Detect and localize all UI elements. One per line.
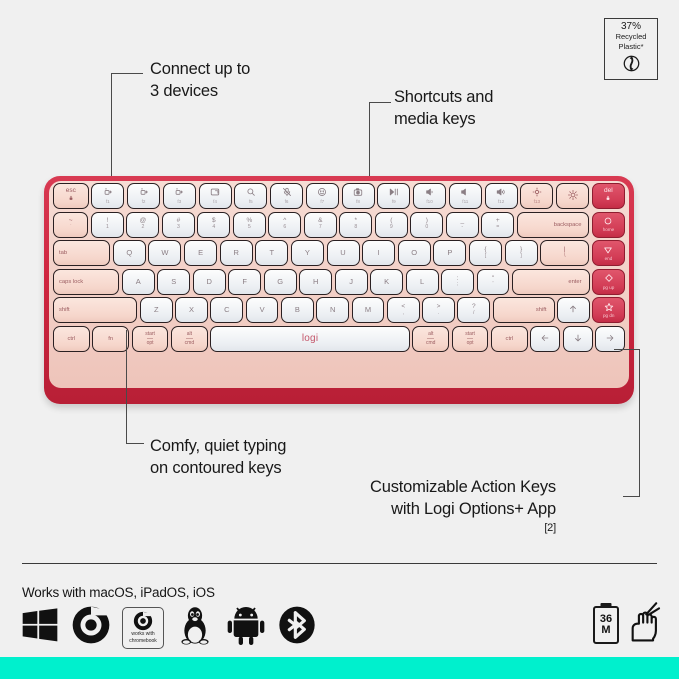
- key-base-label: `: [70, 225, 72, 230]
- key-key[interactable]: ?/: [457, 297, 490, 323]
- key-label: W: [161, 249, 168, 257]
- spacebar-brand: logi: [302, 334, 318, 345]
- key-f[interactable]: F: [228, 269, 261, 295]
- key-dual-label: startopt: [465, 331, 475, 347]
- key-pg-up[interactable]: pg up: [592, 269, 625, 295]
- key-l[interactable]: L: [406, 269, 439, 295]
- key-t[interactable]: T: [255, 240, 288, 266]
- chrome-icon: [71, 605, 111, 650]
- leader-line-action-horizontal-bottom: [623, 496, 640, 497]
- key-cmd[interactable]: altcmd: [171, 326, 208, 352]
- key-u[interactable]: U: [327, 240, 360, 266]
- key-label: pg dn: [603, 314, 615, 319]
- key-base-label: 2: [141, 225, 144, 230]
- callout-comfy-typing: Comfy, quiet typing on contoured keys: [150, 435, 286, 480]
- leader-line-connect-horizontal: [111, 73, 143, 74]
- key-fn-label: f1: [106, 200, 110, 205]
- key-i[interactable]: I: [362, 240, 395, 266]
- device-3-icon: [174, 187, 184, 199]
- windows-icon: [20, 605, 60, 650]
- key-label: X: [189, 306, 194, 314]
- key-b[interactable]: B: [281, 297, 314, 323]
- device-2-icon: [139, 187, 149, 199]
- key-backspace[interactable]: backspace: [517, 212, 590, 238]
- key-key[interactable]: ~`: [53, 212, 88, 238]
- callout-action-line1: Customizable Action Keys: [370, 476, 556, 498]
- key-fn-label: f10: [426, 200, 432, 205]
- play-pause-icon: [389, 187, 399, 199]
- key-7[interactable]: &7: [304, 212, 337, 238]
- key-label: Y: [305, 249, 310, 257]
- key-y[interactable]: Y: [291, 240, 324, 266]
- key-label: fn: [108, 336, 113, 342]
- key-base-label: 5: [248, 225, 251, 230]
- key-label: V: [260, 306, 265, 314]
- key-label: ctrl: [506, 336, 514, 342]
- screenshot-icon: [353, 187, 363, 199]
- key-mac-label: opt: [465, 340, 475, 346]
- key-label: Q: [126, 249, 132, 257]
- key-base-label: ': [493, 282, 494, 287]
- arrow-right-icon: [605, 333, 615, 345]
- key-label: K: [384, 278, 389, 286]
- key-key[interactable]: |\: [540, 240, 589, 266]
- callout-connect-devices: Connect up to 3 devices: [150, 58, 250, 103]
- key-base-label: [: [485, 254, 486, 259]
- key-top-label: esc: [66, 188, 76, 195]
- leader-line-action-vertical: [639, 349, 640, 496]
- diamond-icon: [604, 273, 614, 285]
- key-label: pg up: [603, 286, 615, 291]
- key-arrow-up-icon[interactable]: [557, 297, 590, 323]
- volume-up-icon: [496, 187, 506, 199]
- key-device-2-icon[interactable]: f2: [127, 183, 160, 209]
- key-divider: [467, 338, 474, 339]
- key-cmd[interactable]: altcmd: [412, 326, 449, 352]
- chromebook-caption-line2: chromebook: [129, 639, 157, 644]
- key-label: shift: [59, 307, 70, 313]
- key-d[interactable]: D: [193, 269, 226, 295]
- key-1[interactable]: !1: [91, 212, 124, 238]
- key-m[interactable]: M: [352, 297, 385, 323]
- key-caps-lock[interactable]: caps lock: [53, 269, 119, 295]
- key-o[interactable]: O: [398, 240, 431, 266]
- key-mac-label: opt: [145, 340, 155, 346]
- key-n[interactable]: N: [316, 297, 349, 323]
- key-label: caps lock: [59, 279, 83, 285]
- hand-typing-icon: [627, 602, 661, 647]
- keyboard-row-function-row: escf1f2f3f4f5f6f7f8f9f10f11f12f13del: [53, 183, 625, 209]
- key-label: shift: [536, 307, 547, 313]
- key-key[interactable]: "': [477, 269, 510, 295]
- key-screenshot-icon[interactable]: f8: [342, 183, 375, 209]
- key-fn-label: f6: [285, 200, 289, 205]
- key-base-label: =: [496, 225, 499, 230]
- key-label: home: [603, 228, 615, 233]
- key-label: N: [330, 306, 335, 314]
- mute-icon: [460, 187, 470, 199]
- device-1-icon: [103, 187, 113, 199]
- key-w[interactable]: W: [148, 240, 181, 266]
- arrow-down-icon: [573, 333, 583, 345]
- key-r[interactable]: R: [220, 240, 253, 266]
- key-label: backspace: [554, 222, 582, 228]
- key-brightness-up-icon[interactable]: [556, 183, 589, 209]
- key-label: T: [269, 249, 274, 257]
- key-3[interactable]: #3: [162, 212, 195, 238]
- key-a[interactable]: A: [122, 269, 155, 295]
- volume-down-icon: [425, 187, 435, 199]
- key-2[interactable]: @2: [126, 212, 159, 238]
- key-s[interactable]: S: [157, 269, 190, 295]
- key-base-label: 7: [319, 225, 322, 230]
- key-shift[interactable]: shift: [53, 297, 137, 323]
- key-label: P: [447, 249, 452, 257]
- emoji-icon: [317, 187, 327, 199]
- key-enter[interactable]: enter: [512, 269, 590, 295]
- key-shift[interactable]: shift: [493, 297, 555, 323]
- key-fn-label: f12: [498, 200, 504, 205]
- callout-shortcuts-line2: media keys: [394, 108, 493, 130]
- key-emoji-icon[interactable]: f7: [306, 183, 339, 209]
- key-0[interactable]: )0: [410, 212, 443, 238]
- badge-line-2: Plastic*: [618, 43, 643, 52]
- key-label: S: [171, 278, 176, 286]
- key-9[interactable]: (9: [375, 212, 408, 238]
- key-base-label: ,: [402, 311, 403, 316]
- key-arrow-left-icon[interactable]: [530, 326, 560, 352]
- chromebook-caption-line1: works with: [131, 632, 154, 637]
- key-e[interactable]: E: [184, 240, 217, 266]
- specs-icon-row: 36 M: [593, 602, 661, 647]
- key-label: C: [224, 306, 229, 314]
- key-fn-label: f3: [177, 200, 181, 205]
- android-icon: [226, 605, 266, 650]
- key-ctrl[interactable]: ctrl: [491, 326, 528, 352]
- key-opt[interactable]: startopt: [452, 326, 489, 352]
- compatibility-icon-row: works with chromebook: [20, 604, 317, 651]
- key-base-label: -: [461, 225, 463, 230]
- key-label: L: [420, 278, 424, 286]
- badge-line-1: Recycled: [616, 33, 647, 42]
- key-key[interactable]: <,: [387, 297, 420, 323]
- key-fn-label: f2: [142, 200, 146, 205]
- key-k[interactable]: K: [370, 269, 403, 295]
- key-label: G: [277, 278, 283, 286]
- key-mac-label: cmd: [185, 340, 194, 346]
- key-5[interactable]: %5: [233, 212, 266, 238]
- key-p[interactable]: P: [433, 240, 466, 266]
- works-with-chromebook-icon: works with chromebook: [122, 607, 164, 649]
- battery-value: 36: [600, 614, 612, 625]
- key-pg-dn[interactable]: pg dn: [592, 297, 625, 323]
- key-base-label: 0: [425, 225, 428, 230]
- key-fn[interactable]: fn: [92, 326, 129, 352]
- keyboard-row-shift-row: shiftZXCVBNM<,>.?/shiftpg dn: [53, 297, 625, 323]
- footer-accent-bar: [0, 657, 679, 679]
- keyboard-row-home-row: caps lockASDFGHJKL:;"'enterpg up: [53, 269, 625, 295]
- key-ctrl[interactable]: ctrl: [53, 326, 90, 352]
- key-esc[interactable]: esc: [53, 183, 89, 209]
- key-windows-label: alt: [426, 331, 435, 337]
- key-fn-label: f11: [462, 200, 468, 205]
- section-divider: [22, 563, 657, 564]
- key-label: J: [349, 278, 353, 286]
- keyboard-row-bottom-row: ctrlfnstartoptaltcmdlogialtcmdstartoptct…: [53, 326, 625, 352]
- callout-shortcuts-line1: Shortcuts and: [394, 86, 493, 108]
- key-label: O: [411, 249, 417, 257]
- key-label: end: [605, 257, 613, 262]
- key-key[interactable]: _-: [446, 212, 479, 238]
- key-search-icon[interactable]: f5: [234, 183, 267, 209]
- key-fn-label: f7: [320, 200, 324, 205]
- key-windows-label: start: [465, 331, 475, 337]
- key-c[interactable]: C: [210, 297, 243, 323]
- key-base-label: ;: [457, 282, 458, 287]
- key-mute-icon[interactable]: f11: [449, 183, 482, 209]
- key-key[interactable]: }]: [505, 240, 538, 266]
- key-windows-label: alt: [185, 331, 194, 337]
- key-key[interactable]: >.: [422, 297, 455, 323]
- key-mic-mute-icon[interactable]: f6: [270, 183, 303, 209]
- key-label: enter: [568, 279, 581, 285]
- app-switch-icon: [210, 187, 220, 199]
- key-divider: [147, 338, 154, 339]
- key-fn-label: f5: [249, 200, 253, 205]
- callout-customizable-action-keys: Customizable Action Keys with Logi Optio…: [370, 476, 556, 535]
- key-x[interactable]: X: [175, 297, 208, 323]
- callout-connect-line1: Connect up to: [150, 58, 250, 80]
- key-label: F: [242, 278, 247, 286]
- key-v[interactable]: V: [246, 297, 279, 323]
- key-label: R: [233, 249, 238, 257]
- key-base-label: 9: [390, 225, 393, 230]
- callout-comfy-line1: Comfy, quiet typing: [150, 435, 286, 457]
- key-base-label: 8: [354, 225, 357, 230]
- callout-action-footnote: [2]: [370, 521, 556, 536]
- callout-shortcuts-media: Shortcuts and media keys: [394, 86, 493, 131]
- leader-line-action-horizontal-top: [614, 349, 640, 350]
- key-fn-label: f8: [356, 200, 360, 205]
- key-label: M: [365, 306, 371, 314]
- key-8[interactable]: *8: [339, 212, 372, 238]
- key-key[interactable]: +=: [481, 212, 514, 238]
- brightness-up-icon: [568, 190, 578, 202]
- callout-connect-line2: 3 devices: [150, 80, 250, 102]
- recycled-plastic-badge: 37% Recycled Plastic*: [604, 18, 658, 80]
- key-device-1-icon[interactable]: f1: [91, 183, 124, 209]
- key-app-switch-icon[interactable]: f4: [199, 183, 232, 209]
- key-play-pause-icon[interactable]: f9: [377, 183, 410, 209]
- key-label: U: [340, 249, 345, 257]
- key-divider: [427, 338, 434, 339]
- key-base-label: \: [564, 254, 565, 259]
- key-label: H: [313, 278, 318, 286]
- key-fn-label: f13: [534, 200, 540, 205]
- key-label: A: [136, 278, 141, 286]
- key-label: tab: [59, 250, 67, 256]
- key-key[interactable]: :;: [441, 269, 474, 295]
- leader-line-shortcuts-horizontal: [369, 102, 391, 103]
- keyboard-rows: escf1f2f3f4f5f6f7f8f9f10f11f12f13del~`!1…: [53, 183, 625, 355]
- key-6[interactable]: ^6: [268, 212, 301, 238]
- key-brightness-down-icon[interactable]: f13: [520, 183, 553, 209]
- key-volume-up-icon[interactable]: f12: [485, 183, 518, 209]
- key-label: Z: [154, 306, 159, 314]
- lock-icon: [68, 195, 74, 203]
- key-fn-label: f4: [213, 200, 217, 205]
- key-base-label: ]: [520, 254, 521, 259]
- key-label: B: [295, 306, 300, 314]
- keyboard-row-number-row: ~`!1@2#3$4%5^6&7*8(9)0_-+=backspacehome: [53, 212, 625, 238]
- compatibility-heading: Works with macOS, iPadOS, iOS: [22, 585, 215, 600]
- lock-icon: [605, 195, 611, 203]
- linux-tux-icon: [175, 604, 215, 651]
- bluetooth-icon: [277, 605, 317, 650]
- brightness-down-icon: [532, 187, 542, 199]
- key-divider: [186, 338, 193, 339]
- key-mac-label: cmd: [426, 340, 435, 346]
- key-volume-down-icon[interactable]: f10: [413, 183, 446, 209]
- leader-line-comfy-vertical: [126, 330, 127, 443]
- key-tab[interactable]: tab: [53, 240, 110, 266]
- key-end[interactable]: end: [592, 240, 625, 266]
- key-label: I: [378, 249, 380, 257]
- arrow-up-icon: [568, 304, 578, 316]
- key-base-label: 1: [106, 225, 109, 230]
- callout-action-line2-wrap: with Logi Options+ App[2]: [370, 498, 556, 535]
- battery-unit: M: [601, 625, 610, 636]
- key-key[interactable]: {[: [469, 240, 502, 266]
- key-base-label: 4: [212, 225, 215, 230]
- callout-action-line2: with Logi Options+ App: [370, 498, 556, 520]
- key-arrow-down-icon[interactable]: [563, 326, 593, 352]
- battery-icon: 36 M: [593, 606, 619, 644]
- key-4[interactable]: $4: [197, 212, 230, 238]
- key-dual-label: altcmd: [185, 331, 194, 347]
- arrow-left-icon: [540, 333, 550, 345]
- key-windows-label: start: [145, 331, 155, 337]
- leader-line-comfy-horizontal: [126, 443, 144, 444]
- key-base-label: 3: [177, 225, 180, 230]
- key-home[interactable]: home: [592, 212, 625, 238]
- key-top-label: del: [604, 188, 613, 195]
- keyboard-row-qwerty-row: tabQWERTYUIOP{[}]|\end: [53, 240, 625, 266]
- key-label: E: [198, 249, 203, 257]
- key-j[interactable]: J: [335, 269, 368, 295]
- key-del[interactable]: del: [592, 183, 625, 209]
- key-dual-label: altcmd: [426, 331, 435, 347]
- key-g[interactable]: G: [264, 269, 297, 295]
- key-device-3-icon[interactable]: f3: [163, 183, 196, 209]
- callout-comfy-line2: on contoured keys: [150, 457, 286, 479]
- key-h[interactable]: H: [299, 269, 332, 295]
- key-q[interactable]: Q: [113, 240, 146, 266]
- key-base-label: /: [473, 311, 474, 316]
- mic-mute-icon: [282, 187, 292, 199]
- recycle-icon: [623, 55, 640, 77]
- badge-percent: 37%: [621, 21, 641, 32]
- key-label: D: [207, 278, 212, 286]
- key-fn-label: f9: [392, 200, 396, 205]
- key-spacebar[interactable]: logi: [210, 326, 409, 352]
- key-opt[interactable]: startopt: [132, 326, 169, 352]
- key-z[interactable]: Z: [140, 297, 173, 323]
- key-base-label: 6: [283, 225, 286, 230]
- key-label: ctrl: [68, 336, 76, 342]
- keyboard-device: escf1f2f3f4f5f6f7f8f9f10f11f12f13del~`!1…: [44, 176, 634, 404]
- key-base-label: .: [438, 311, 439, 316]
- key-dual-label: startopt: [145, 331, 155, 347]
- search-icon: [246, 187, 256, 199]
